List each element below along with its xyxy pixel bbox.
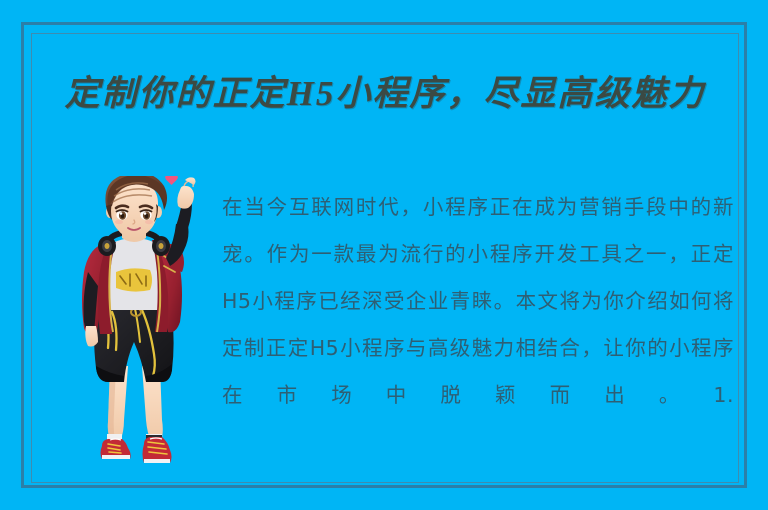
finger-heart-gesture — [165, 176, 195, 228]
character-illustration — [58, 176, 208, 476]
poster-canvas: 定制你的正定H5小程序，尽显高级魅力 — [0, 0, 768, 510]
left-arm — [84, 272, 99, 347]
shoes — [101, 437, 172, 463]
body-paragraph: 在当今互联网时代，小程序正在成为营销手段中的新宠。作为一款最为流行的小程序开发工… — [222, 184, 734, 419]
head — [105, 176, 167, 238]
page-title: 定制你的正定H5小程序，尽显高级魅力 — [40, 60, 730, 120]
